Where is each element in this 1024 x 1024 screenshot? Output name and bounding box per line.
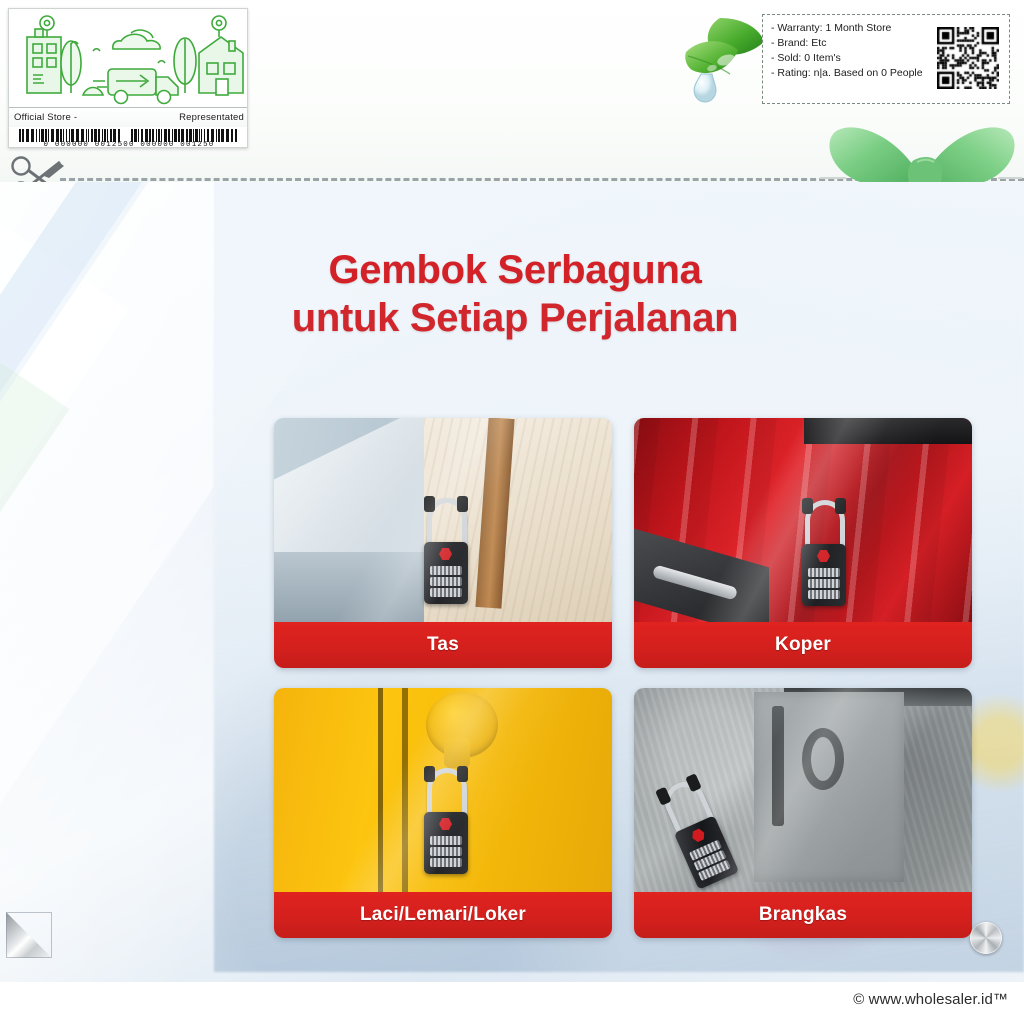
product-card-grid: Tas Koper [274, 418, 974, 953]
product-card-loker[interactable]: Laci/Lemari/Loker [274, 688, 612, 938]
page-title: Gembok Serbaguna untuk Setiap Perjalanan [120, 246, 910, 342]
title-line-2: untuk Setiap Perjalanan [120, 294, 910, 342]
leaf-droplet-icon [676, 12, 772, 112]
watermark-label: © www.wholesaler.id™ [853, 991, 1008, 1008]
card-photo-brangkas [634, 688, 972, 892]
card-label-tas: Tas [274, 622, 612, 668]
qr-code-icon [934, 24, 1002, 92]
tsa-lock-icon [656, 775, 696, 793]
card-photo-koper [634, 418, 972, 622]
card-label-loker: Laci/Lemari/Loker [274, 892, 612, 938]
product-card-brangkas[interactable]: Brangkas [634, 688, 972, 938]
barcode: 0 000000 0012500 000000 001250 [9, 128, 248, 148]
store-meta-row: Official Store - Representated [9, 107, 248, 127]
poster-canvas: Official Store - Representated 0 000000 … [0, 0, 1024, 1024]
official-store-label: Official Store - [14, 112, 77, 123]
representative-label: Representated [179, 112, 244, 123]
card-label-koper: Koper [634, 622, 972, 668]
card-photo-loker [274, 688, 612, 892]
card-photo-tas [274, 418, 612, 622]
product-info-box: - Warranty: 1 Month Store - Brand: Etc -… [762, 14, 1010, 104]
metal-knob-decoration [970, 922, 1002, 954]
title-line-1: Gembok Serbaguna [120, 246, 910, 294]
product-card-koper[interactable]: Koper [634, 418, 972, 668]
card-label-brangkas: Brangkas [634, 892, 972, 938]
footer-bar: © www.wholesaler.id™ [0, 982, 1024, 1024]
barcode-number: 0 000000 0012500 000000 001250 [9, 141, 248, 148]
page-fold-frame [6, 912, 52, 958]
store-coupon-card: Official Store - Representated 0 000000 … [8, 8, 248, 148]
delivery-city-line-illustration-icon [9, 9, 248, 107]
product-card-tas[interactable]: Tas [274, 418, 612, 668]
